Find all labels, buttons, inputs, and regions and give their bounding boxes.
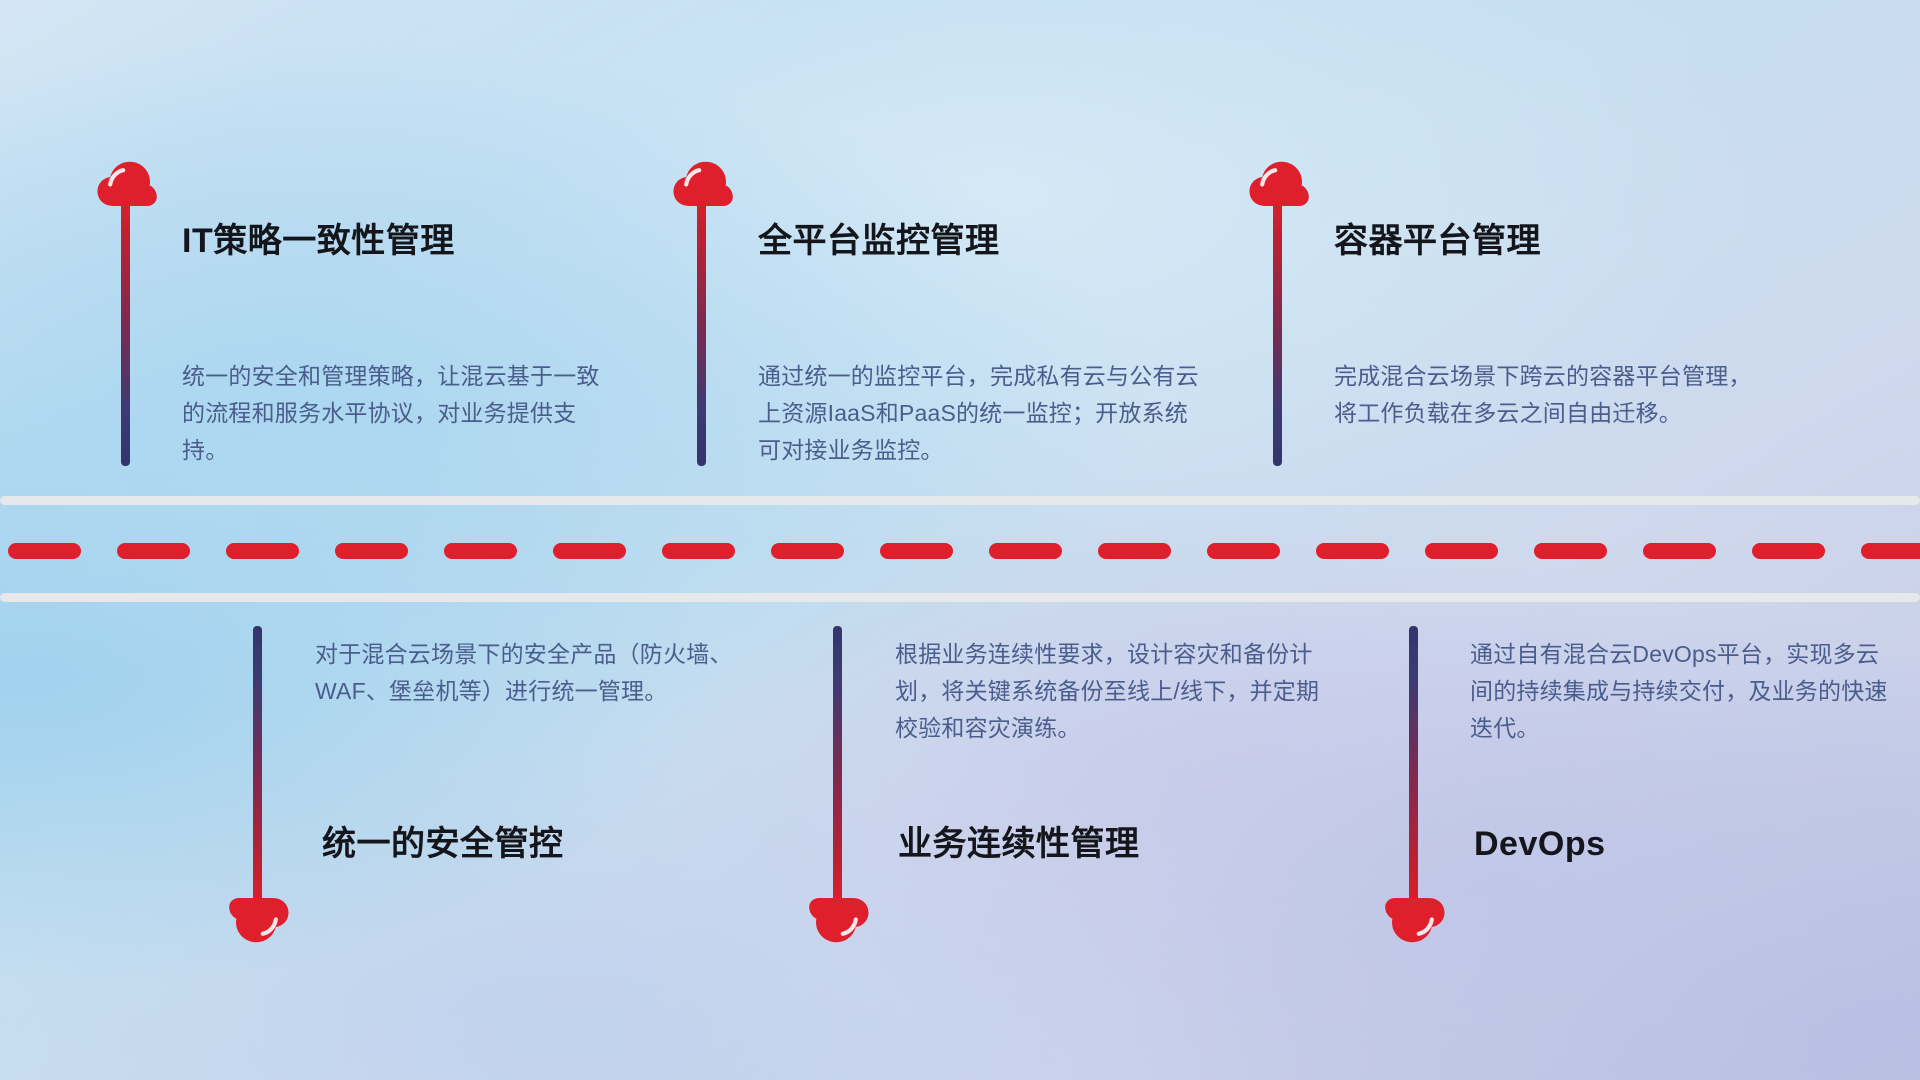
connector-stem bbox=[121, 196, 130, 466]
dash-segment bbox=[1861, 543, 1920, 559]
card-title: 统一的安全管控 bbox=[322, 827, 564, 861]
dash-segment bbox=[1316, 543, 1389, 559]
dash-segment bbox=[771, 543, 844, 559]
card-body: 统一的安全和管理策略，让混云基于一致的流程和服务水平协议，对业务提供支持。 bbox=[182, 358, 612, 469]
red-dashed-rule bbox=[0, 543, 1920, 559]
card-body: 对于混合云场景下的安全产品（防火墙、WAF、堡垒机等）进行统一管理。 bbox=[315, 636, 745, 710]
card-body: 通过自有混合云DevOps平台，实现多云间的持续集成与持续交付，及业务的快速迭代… bbox=[1470, 636, 1900, 747]
dash-segment bbox=[662, 543, 735, 559]
card-body: 根据业务连续性要求，设计容灾和备份计划，将关键系统备份至线上/线下，并定期校验和… bbox=[895, 636, 1325, 747]
dash-segment bbox=[117, 543, 190, 559]
cloud-icon bbox=[1384, 896, 1446, 944]
card-body: 通过统一的监控平台，完成私有云与公有云上资源IaaS和PaaS的统一监控；开放系… bbox=[758, 358, 1208, 469]
dash-segment bbox=[1207, 543, 1280, 559]
card-title: 全平台监控管理 bbox=[758, 224, 1000, 258]
connector-stem bbox=[697, 196, 706, 466]
connector-stem bbox=[1273, 196, 1282, 466]
dash-segment bbox=[1752, 543, 1825, 559]
dash-segment bbox=[1098, 543, 1171, 559]
dash-segment bbox=[1425, 543, 1498, 559]
top-solid-rule bbox=[0, 496, 1920, 505]
connector-stem bbox=[1409, 626, 1418, 906]
card-title: 容器平台管理 bbox=[1334, 224, 1541, 258]
dash-segment bbox=[335, 543, 408, 559]
dash-segment bbox=[553, 543, 626, 559]
card-title: DevOps bbox=[1474, 827, 1606, 861]
dash-segment bbox=[989, 543, 1062, 559]
card-title: 业务连续性管理 bbox=[898, 827, 1140, 861]
connector-stem bbox=[833, 626, 842, 906]
infographic-stage: IT策略一致性管理 统一的安全和管理策略，让混云基于一致的流程和服务水平协议，对… bbox=[0, 0, 1920, 1080]
dash-segment bbox=[1643, 543, 1716, 559]
dash-segment bbox=[444, 543, 517, 559]
dash-segment bbox=[1534, 543, 1607, 559]
connector-stem bbox=[253, 626, 262, 906]
dash-segment bbox=[880, 543, 953, 559]
cloud-icon bbox=[808, 896, 870, 944]
dash-segment bbox=[8, 543, 81, 559]
bottom-solid-rule bbox=[0, 593, 1920, 602]
dash-segment bbox=[226, 543, 299, 559]
card-title: IT策略一致性管理 bbox=[182, 224, 455, 258]
cloud-icon bbox=[228, 896, 290, 944]
card-body: 完成混合云场景下跨云的容器平台管理，将工作负载在多云之间自由迁移。 bbox=[1334, 358, 1764, 432]
